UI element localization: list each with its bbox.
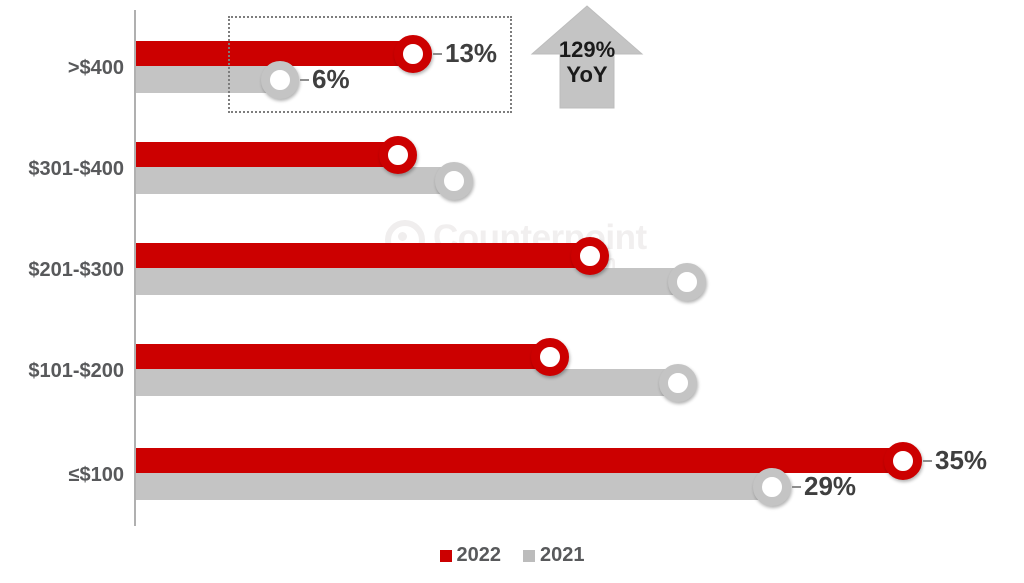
value-label-2022-lte-100: 35% <box>935 445 987 476</box>
legend-swatch-2022-icon <box>440 550 452 562</box>
highlight-dotted-box <box>228 16 512 113</box>
bar-2022-101-200 <box>136 344 554 369</box>
marker-2022-lte-100 <box>884 442 922 480</box>
leader-line-2021-lte-100 <box>792 486 801 488</box>
marker-2021-lte-100 <box>753 468 791 506</box>
bar-2022-201-300 <box>136 243 594 268</box>
axis-label-301-400: $301-$400 <box>0 158 124 181</box>
axis-label-gt-400: >$400 <box>0 57 124 80</box>
marker-2021-101-200 <box>659 364 697 402</box>
marker-2021-201-300 <box>668 263 706 301</box>
bar-chart: Counterpoint Research >$400 13% 6% 129% … <box>0 0 1024 583</box>
axis-label-lte-100: ≤$100 <box>0 464 124 487</box>
yoy-unit: YoY <box>528 63 646 88</box>
yoy-arrow-callout: 129% YoY <box>528 2 646 112</box>
axis-label-201-300: $201-$300 <box>0 259 124 282</box>
marker-2022-201-300 <box>571 237 609 275</box>
bar-2021-301-400 <box>136 167 458 194</box>
legend-swatch-2021-icon <box>523 550 535 562</box>
bar-2021-201-300 <box>136 268 691 295</box>
axis-label-101-200: $101-$200 <box>0 360 124 383</box>
marker-2022-301-400 <box>379 136 417 174</box>
legend-item-2021[interactable]: 2021 <box>523 544 585 567</box>
chart-legend: 2022 2021 <box>0 544 1024 567</box>
legend-item-2022[interactable]: 2022 <box>440 544 502 567</box>
marker-2021-301-400 <box>435 162 473 200</box>
bar-2022-301-400 <box>136 142 402 167</box>
marker-2022-101-200 <box>531 338 569 376</box>
bar-2021-lte-100 <box>136 473 776 500</box>
bar-2022-lte-100 <box>136 448 907 473</box>
leader-line-2022-lte-100 <box>923 460 932 462</box>
yoy-text-block: 129% YoY <box>528 38 646 87</box>
value-label-2021-lte-100: 29% <box>804 471 856 502</box>
yoy-value: 129% <box>528 38 646 63</box>
legend-label-2022: 2022 <box>457 544 502 567</box>
legend-label-2021: 2021 <box>540 544 585 567</box>
bar-2021-101-200 <box>136 369 682 396</box>
